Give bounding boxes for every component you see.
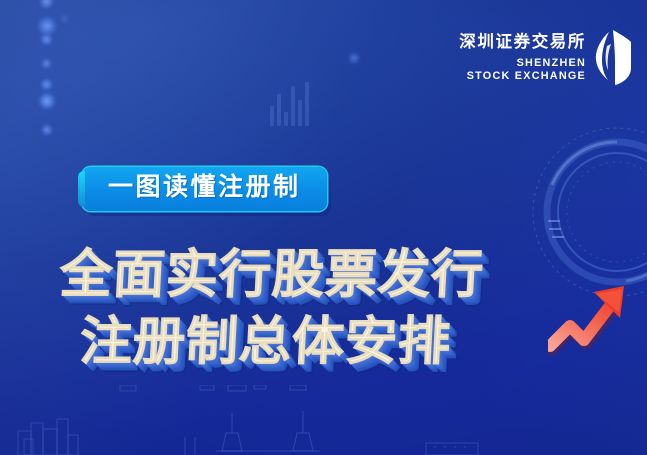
headline-line-1: 全面实行股票发行	[59, 248, 486, 303]
shenzhen-stock-exchange-logo-mark	[593, 28, 633, 86]
logo-text-block: 深圳证券交易所 SHENZHEN STOCK EXCHANGE	[459, 34, 586, 82]
logo-english-line-2: STOCK EXCHANGE	[459, 71, 586, 82]
background-light-sweep	[0, 0, 525, 455]
poster-canvas: 深圳证券交易所 SHENZHEN STOCK EXCHANGE 一图读懂注册制 …	[0, 0, 647, 455]
topic-badge: 一图读懂注册制	[82, 167, 327, 211]
logo-english-line-1: SHENZHEN	[459, 58, 586, 69]
topic-badge-label: 一图读懂注册制	[108, 174, 301, 202]
shenzhen-stock-exchange-logo: 深圳证券交易所 SHENZHEN STOCK EXCHANGE	[459, 34, 633, 86]
logo-chinese-name: 深圳证券交易所	[459, 34, 586, 51]
poster-headline: 全面实行股票发行 注册制总体安排	[60, 248, 484, 370]
city-skyline-line-art-decoration	[0, 385, 647, 455]
headline-line-2: 注册制总体安排	[79, 315, 486, 370]
rising-trend-arrow-icon	[548, 276, 640, 360]
tech-circle-ring-decoration	[530, 125, 647, 300]
bar-chart-decoration	[270, 78, 310, 126]
